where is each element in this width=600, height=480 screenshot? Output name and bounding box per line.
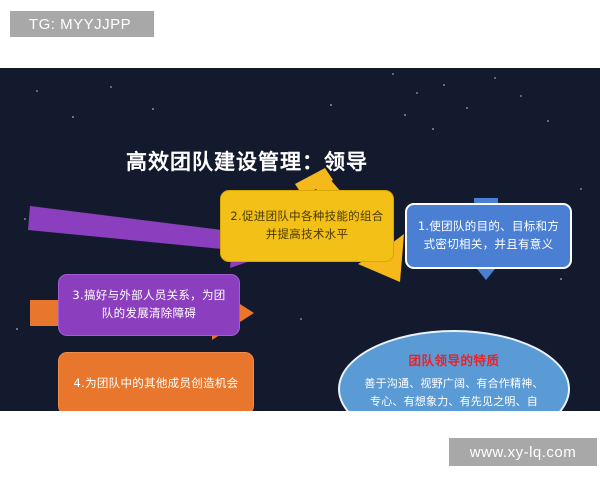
star-speck <box>300 318 302 320</box>
star-speck <box>110 86 112 88</box>
star-speck <box>547 120 549 122</box>
watermark-bottom-right: www.xy-lq.com <box>449 438 597 466</box>
star-speck <box>404 114 406 116</box>
star-speck <box>72 116 74 118</box>
center-ellipse-body: 善于沟通、视野广阔、有合作精神、专心、有想象力、有先见之明、自信、正直、有勇气、… <box>360 375 548 411</box>
center-ellipse[interactable]: 团队领导的特质 善于沟通、视野广阔、有合作精神、专心、有想象力、有先见之明、自信… <box>338 330 570 411</box>
star-speck <box>392 73 394 75</box>
star-speck <box>16 328 18 330</box>
page-title: 高效团队建设管理：领导 <box>126 146 426 176</box>
star-speck <box>330 104 332 106</box>
star-speck <box>24 218 26 220</box>
content-box-blue[interactable]: 1.使团队的目的、目标和方式密切相关，并且有意义 <box>405 203 572 269</box>
star-speck <box>466 107 468 109</box>
slide-canvas: 高效团队建设管理：领导 2.促进团队中各种技能的组合并提高技术水平 1.使团队的… <box>0 68 600 411</box>
star-speck <box>432 128 434 130</box>
center-ellipse-title: 团队领导的特质 <box>408 350 499 369</box>
star-speck <box>580 188 582 190</box>
star-speck <box>36 90 38 92</box>
watermark-top-left: TG: MYYJJPP <box>10 11 154 37</box>
star-speck <box>416 92 418 94</box>
content-box-orange[interactable]: 4.为团队中的其他成员创造机会 <box>58 352 254 411</box>
star-speck <box>152 108 154 110</box>
star-speck <box>443 84 445 86</box>
content-box-yellow[interactable]: 2.促进团队中各种技能的组合并提高技术水平 <box>220 190 394 262</box>
star-speck <box>494 77 496 79</box>
star-speck <box>520 95 522 97</box>
content-box-purple[interactable]: 3.搞好与外部人员关系，为团队的发展清除障碍 <box>58 274 240 336</box>
star-speck <box>560 278 562 280</box>
